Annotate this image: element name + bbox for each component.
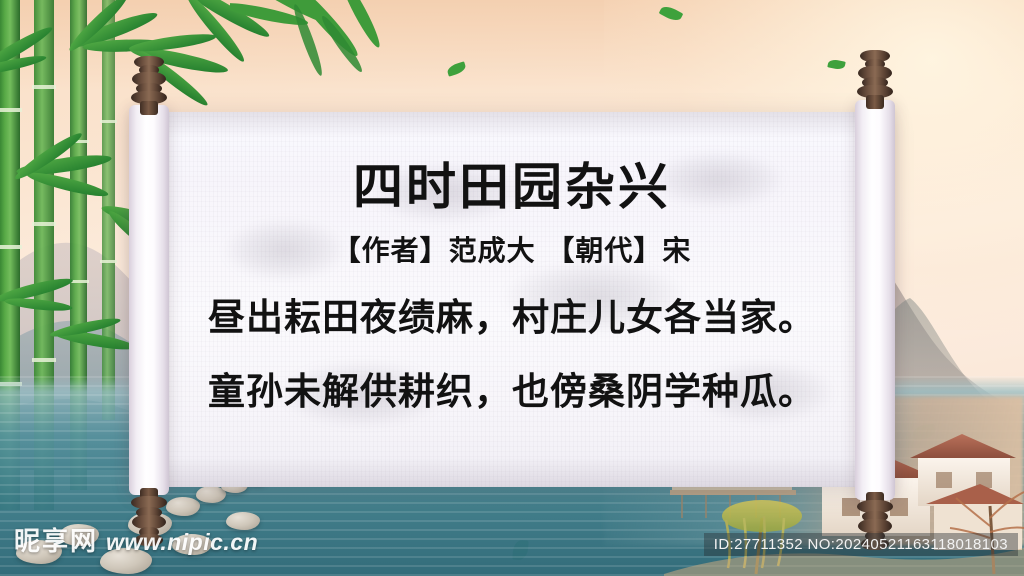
poem-line-1: 昼出耘田夜绩麻，村庄儿女各当家。 [208, 287, 816, 341]
site-url: www.nipic.cn [106, 529, 258, 556]
bamboo-leaves-top [230, 0, 530, 102]
finial-top-right [849, 50, 901, 106]
site-watermark: 昵享网 www.nipic.cn [14, 521, 258, 558]
poem-author-dynasty: 【作者】范成大 【朝代】宋 [333, 229, 692, 269]
site-name-cn: 昵享网 [14, 521, 98, 558]
scroll-roller-right [855, 100, 895, 500]
image-id-watermark: ID:27711352 NO:20240521163118018103 [704, 533, 1018, 556]
finial-top-left [123, 56, 175, 112]
scroll-roller-left [129, 105, 169, 495]
poster-canvas: 四时田园杂兴 【作者】范成大 【朝代】宋 昼出耘田夜绩麻，村庄儿女各当家。 童孙… [0, 0, 1024, 576]
poem-line-2: 童孙未解供耕织，也傍桑阴学种瓜。 [208, 361, 816, 415]
poem-title: 四时田园杂兴 [353, 160, 671, 215]
poem-content: 四时田园杂兴 【作者】范成大 【朝代】宋 昼出耘田夜绩麻，村庄儿女各当家。 童孙… [133, 112, 891, 487]
